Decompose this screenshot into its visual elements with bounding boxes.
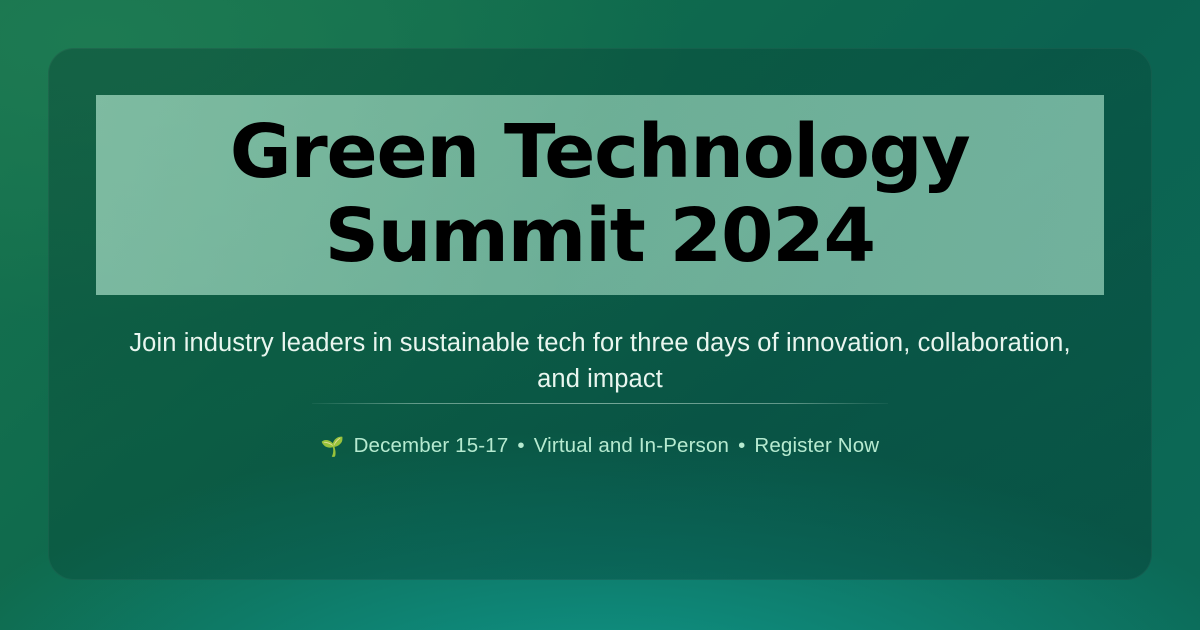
poster-card: Green Technology Summit 2024 Join indust…	[48, 48, 1152, 580]
poster-title-line-1: Green Technology	[230, 111, 970, 195]
meta-date: December 15-17	[354, 434, 509, 458]
seedling-icon: 🌱	[321, 438, 345, 457]
poster-meta-bar: 🌱 December 15-17 • Virtual and In-Person…	[96, 434, 1104, 458]
title-band: Green Technology Summit 2024	[96, 95, 1104, 295]
poster-title-line-2: Summit 2024	[325, 195, 875, 279]
meta-separator-1: •	[517, 434, 524, 458]
meta-format: Virtual and In-Person	[534, 434, 729, 458]
meta-register-now-cta[interactable]: Register Now	[754, 434, 879, 458]
poster-subtitle: Join industry leaders in sustainable tec…	[118, 325, 1082, 397]
section-divider	[312, 403, 888, 404]
meta-separator-2: •	[738, 434, 745, 458]
